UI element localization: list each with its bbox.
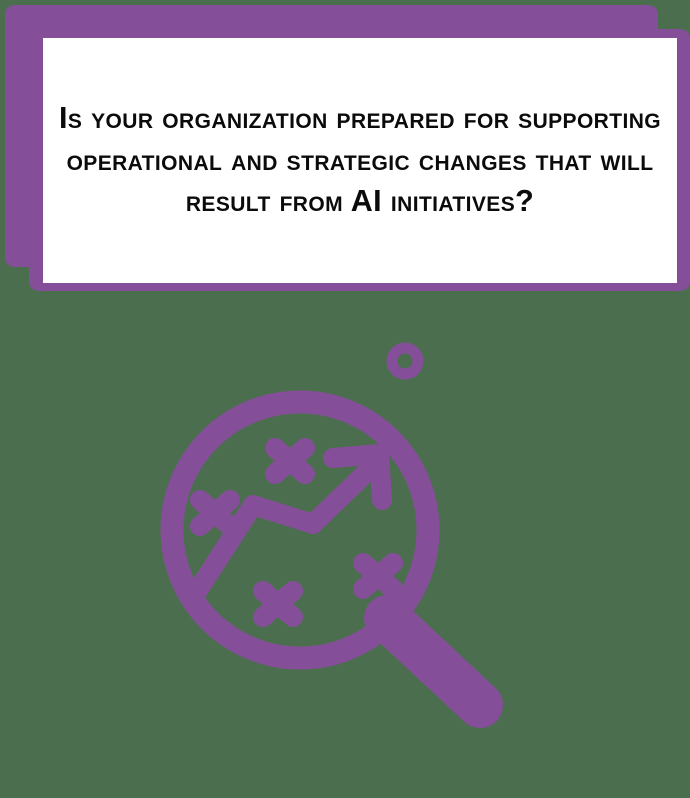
magnifier-handle: [387, 618, 480, 705]
x-mark-right: [363, 563, 393, 589]
x-mark-top: [275, 448, 305, 474]
question-banner: Is your organization prepared for suppor…: [0, 0, 690, 300]
x-mark-bottom: [263, 591, 293, 617]
magnifying-glass-trend-chart-icon: [155, 330, 535, 730]
question-text: Is your organization prepared for suppor…: [57, 98, 663, 223]
accent-ring-icon: [392, 348, 418, 374]
illustration-container: [0, 330, 690, 750]
x-mark-left: [200, 500, 230, 526]
question-panel: Is your organization prepared for suppor…: [43, 38, 677, 283]
